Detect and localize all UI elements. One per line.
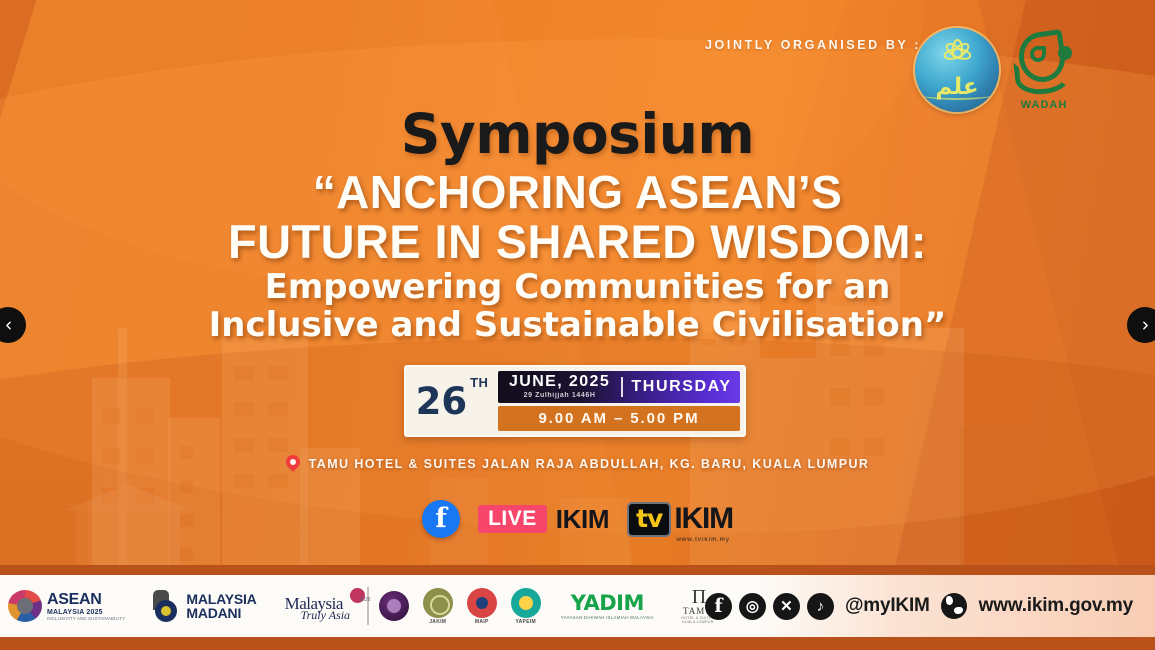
wadah-swoosh-icon [1013, 57, 1072, 97]
ikim-logo: علم [915, 28, 999, 112]
date-day-of-week: THURSDAY [623, 378, 740, 396]
madani-emblem-icon [151, 590, 181, 622]
asean-title: ASEAN [47, 592, 125, 608]
malaysia-madani-logo: MALAYSIA MADANI [151, 590, 256, 622]
sponsor-group-national: ASEAN MALAYSIA 2025 INCLUSIVITY AND SUST… [8, 588, 357, 624]
wadah-logo: WADAH [1013, 30, 1075, 110]
jointly-organised-label: JOINTLY ORGANISED BY : [705, 38, 921, 52]
sponsor-group-agencies: JAKIM MAIP YAPEIM YADIM YAYASAN DAKWAH I… [379, 588, 705, 625]
map-pin-icon [286, 455, 300, 473]
madani-line2: MADANI [186, 606, 256, 620]
sponsor-strip: ASEAN MALAYSIA 2025 INCLUSIVITY AND SUST… [0, 575, 1155, 637]
sub-title-line1: Empowering Communities for an [0, 268, 1155, 306]
asean-tagline: INCLUSIVITY AND SUSTAINABILITY [47, 616, 125, 621]
event-date-card: 26 TH JUNE, 2025 29 Zulhijjah 1446H THUR… [404, 365, 746, 437]
organiser-logos: علم WADAH [915, 28, 1075, 112]
yadim-subtitle: YAYASAN DAKWAH ISLAMIAH MALAYSIA [561, 615, 654, 620]
truly-asia-emblem-icon: Malaysia Truly Asia 2026 [285, 588, 371, 624]
asean-subtitle: MALAYSIA 2025 [47, 609, 125, 616]
date-time-range: 9.00 AM – 5.00 PM [539, 410, 700, 427]
x-twitter-icon[interactable]: ✕ [773, 593, 800, 620]
maip-caption: MAIP [475, 619, 489, 625]
yapeim-caption: YAPEIM [515, 619, 536, 625]
asean-malaysia-2025-logo: ASEAN MALAYSIA 2025 INCLUSIVITY AND SUST… [8, 590, 125, 622]
live-pill-label: LIVE [478, 505, 547, 533]
yapeim-logo: YAPEIM [511, 588, 541, 625]
title-block: Symposium “ANCHORING ASEAN’S FUTURE IN S… [0, 106, 1155, 344]
date-day-ordinal: TH [470, 375, 488, 390]
main-title-line2: FUTURE IN SHARED WISDOM: [0, 217, 1155, 267]
website-url[interactable]: www.ikim.gov.my [979, 595, 1133, 617]
yapeim-emblem-icon [511, 588, 541, 618]
asean-emblem-icon [8, 590, 42, 622]
tv-sub-label: www.tvikim.my [676, 537, 730, 543]
date-day-number: 26 [416, 383, 468, 420]
date-detail-block: JUNE, 2025 29 Zulhijjah 1446H THURSDAY 9… [498, 367, 744, 435]
main-title-line1: “ANCHORING ASEAN’S [313, 166, 842, 218]
social-handle: @myIKIM [845, 595, 930, 617]
facebook-icon[interactable]: f [422, 500, 460, 538]
globe-icon [941, 593, 967, 619]
ikim-flower-icon [934, 36, 980, 70]
sub-title: Empowering Communities for an Inclusive … [0, 268, 1155, 344]
live-channel-label: IKIM [556, 506, 609, 532]
main-title: “ANCHORING ASEAN’S FUTURE IN SHARED WISD… [0, 168, 1155, 267]
date-month-year: JUNE, 2025 [498, 374, 621, 391]
tv-box-icon: tv [627, 502, 671, 537]
chevron-right-icon [1139, 319, 1152, 332]
facebook-live-badge: LIVE IKIM [478, 505, 609, 533]
jakim-emblem-icon [423, 588, 453, 618]
mybd-emblem-icon [379, 591, 409, 621]
sponsor-band: ASEAN MALAYSIA 2025 INCLUSIVITY AND SUST… [0, 565, 1155, 650]
truly-asia-year: 2026 [359, 597, 370, 603]
truly-asia-line2: Truly Asia [301, 608, 350, 623]
jakim-caption: JAKIM [429, 619, 446, 625]
date-month-row: JUNE, 2025 29 Zulhijjah 1446H THURSDAY [498, 371, 740, 403]
yadim-logo: YADIM YAYASAN DAKWAH ISLAMIAH MALAYSIA [561, 593, 654, 620]
mybd-logo [379, 591, 409, 621]
date-day-block: 26 TH [406, 367, 498, 435]
slide-banner: JOINTLY ORGANISED BY : علم WADAH Symposi… [0, 0, 1155, 650]
tv-prefix-label: tv [636, 504, 662, 533]
tiktok-icon[interactable]: ♪ [807, 593, 834, 620]
chevron-left-icon [2, 319, 15, 332]
date-hijri: 29 Zulhijjah 1446H [498, 392, 621, 399]
symposium-kicker: Symposium [0, 106, 1155, 164]
social-links-group: f ◎ ✕ ♪ @myIKIM www.ikim.gov.my [705, 593, 1147, 620]
tv-ikim-wordmark: IKIM www.tvikim.my [674, 504, 733, 534]
madani-line1: MALAYSIA [186, 592, 256, 606]
ikim-arc [923, 91, 990, 100]
facebook-icon[interactable]: f [705, 593, 732, 620]
tv-ikim-logo: tv IKIM www.tvikim.my [627, 502, 733, 537]
date-time-row: 9.00 AM – 5.00 PM [498, 406, 740, 431]
venue-row: TAMU HOTEL & SUITES JALAN RAJA ABDULLAH,… [0, 455, 1155, 473]
instagram-icon[interactable]: ◎ [739, 593, 766, 620]
venue-text: TAMU HOTEL & SUITES JALAN RAJA ABDULLAH,… [309, 457, 870, 471]
date-month-group: JUNE, 2025 29 Zulhijjah 1446H [498, 374, 621, 399]
tv-name-label: IKIM [674, 502, 733, 535]
carousel-next-button[interactable] [1127, 307, 1155, 343]
broadcast-row: f LIVE IKIM tv IKIM www.tvikim.my [0, 500, 1155, 538]
maip-logo: MAIP [467, 588, 497, 625]
maip-emblem-icon [467, 588, 497, 618]
jakim-logo: JAKIM [423, 588, 453, 625]
malaysia-truly-asia-logo: Malaysia Truly Asia 2026 [285, 588, 371, 624]
sub-title-line2: Inclusive and Sustainable Civilisation” [0, 306, 1155, 344]
yadim-title: YADIM [571, 593, 644, 614]
